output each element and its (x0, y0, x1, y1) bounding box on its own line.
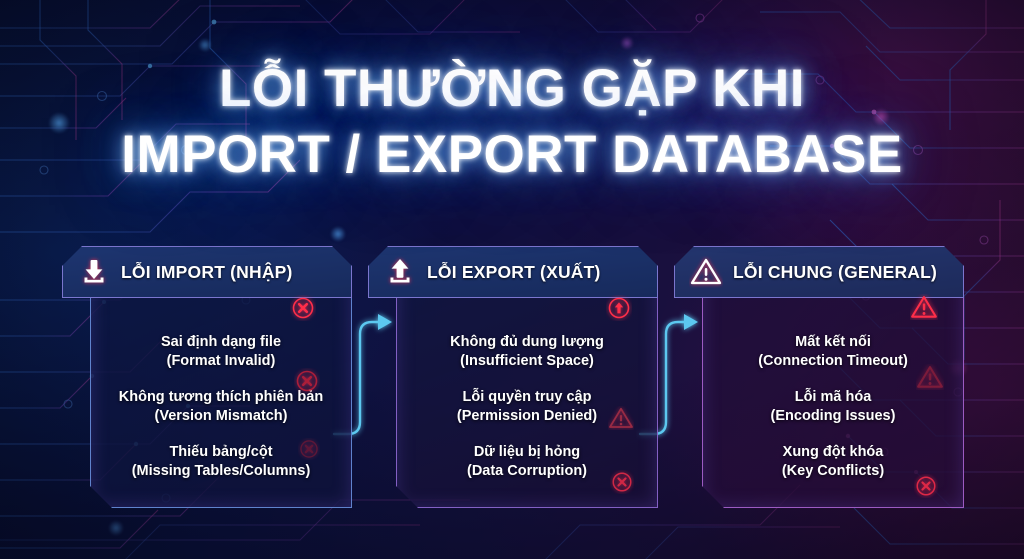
ambient-glow (330, 226, 346, 242)
card-header-export[interactable]: LỖI EXPORT (XUẤT) (368, 246, 658, 298)
item-vi: Lỗi quyền truy cập (402, 388, 652, 407)
list-item: Không tương thích phiên bản (Version Mis… (96, 388, 346, 426)
item-vi: Mất kết nối (708, 333, 958, 352)
list-item: Sai định dạng file (Format Invalid) (96, 333, 346, 371)
title-line-1: LỖI THƯỜNG GẶP KHI (0, 56, 1024, 122)
item-en: (Version Mismatch) (96, 407, 346, 426)
item-en: (Data Corruption) (402, 462, 652, 481)
item-vi: Sai định dạng file (96, 333, 346, 352)
list-item: Lỗi mã hóa (Encoding Issues) (708, 388, 958, 426)
item-en: (Key Conflicts) (708, 462, 958, 481)
item-vi: Không tương thích phiên bản (96, 388, 346, 407)
list-item: Thiếu bảng/cột (Missing Tables/Columns) (96, 443, 346, 481)
item-en: (Permission Denied) (402, 407, 652, 426)
upload-icon (383, 255, 417, 289)
item-vi: Lỗi mã hóa (708, 388, 958, 407)
item-en: (Missing Tables/Columns) (96, 462, 346, 481)
list-item: Xung đột khóa (Key Conflicts) (708, 443, 958, 481)
item-vi: Xung đột khóa (708, 443, 958, 462)
card-items-import: Sai định dạng file (Format Invalid) Khôn… (90, 308, 352, 506)
card-export[interactable]: LỖI EXPORT (XUẤT) Không đủ dung lượng (I… (368, 246, 658, 508)
ambient-glow (108, 520, 124, 536)
ambient-glow (620, 36, 634, 50)
card-items-general: Mất kết nối (Connection Timeout) Lỗi mã … (702, 308, 964, 506)
ambient-glow (198, 38, 212, 52)
item-en: (Encoding Issues) (708, 407, 958, 426)
card-items-export: Không đủ dung lượng (Insufficient Space)… (396, 308, 658, 506)
card-title-general: LỖI CHUNG (GENERAL) (733, 262, 937, 283)
warning-triangle-icon (689, 255, 723, 289)
list-item: Mất kết nối (Connection Timeout) (708, 333, 958, 371)
item-vi: Không đủ dung lượng (402, 333, 652, 352)
item-vi: Thiếu bảng/cột (96, 443, 346, 462)
item-en: (Format Invalid) (96, 352, 346, 371)
list-item: Dữ liệu bị hỏng (Data Corruption) (402, 443, 652, 481)
item-vi: Dữ liệu bị hỏng (402, 443, 652, 462)
card-title-export: LỖI EXPORT (XUẤT) (427, 262, 601, 283)
title-line-2: IMPORT / EXPORT DATABASE (0, 122, 1024, 188)
card-header-general[interactable]: LỖI CHUNG (GENERAL) (674, 246, 964, 298)
card-title-import: LỖI IMPORT (NHẬP) (121, 262, 293, 283)
item-en: (Insufficient Space) (402, 352, 652, 371)
download-icon (77, 255, 111, 289)
card-general[interactable]: LỖI CHUNG (GENERAL) Mất kết nối (Connect… (674, 246, 964, 508)
infographic-canvas: LỖI THƯỜNG GẶP KHI IMPORT / EXPORT DATAB… (0, 0, 1024, 559)
list-item: Lỗi quyền truy cập (Permission Denied) (402, 388, 652, 426)
page-title: LỖI THƯỜNG GẶP KHI IMPORT / EXPORT DATAB… (0, 56, 1024, 188)
list-item: Không đủ dung lượng (Insufficient Space) (402, 333, 652, 371)
card-header-import[interactable]: LỖI IMPORT (NHẬP) (62, 246, 352, 298)
card-import[interactable]: LỖI IMPORT (NHẬP) Sai định dạng file (Fo… (62, 246, 352, 508)
item-en: (Connection Timeout) (708, 352, 958, 371)
